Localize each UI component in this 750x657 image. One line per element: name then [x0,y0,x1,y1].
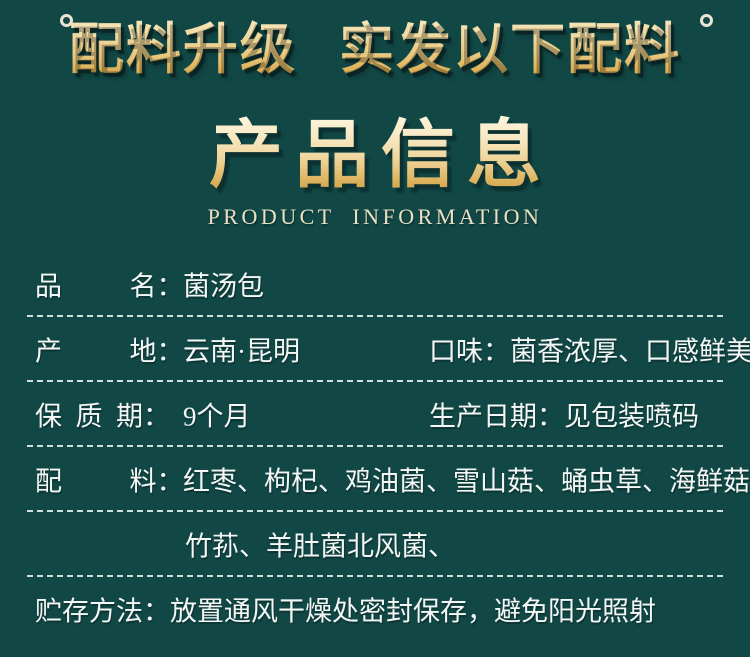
product-info-table: 品 名： 菌汤包 产 地： 云南·昆明 口味： 菌香浓厚、口感鲜美 保 质 期：… [0,252,750,640]
ingredients-cell: 配 料： 红枣、枸杞、鸡油菌、雪山菇、蛹虫草、海鲜菇、 [35,459,750,498]
ingredients-value: 红枣、枸杞、鸡油菌、雪山菇、蛹虫草、海鲜菇、 [183,459,750,498]
shelf-life-cell: 保 质 期： 9个月 [35,394,251,433]
shelf-life-label: 保 质 期： [35,394,183,433]
ingredients-continued-value: 竹荪、羊肚菌北风菌、 [185,524,455,563]
banner-headline: 配料升级 实发以下配料 [0,8,750,90]
shelf-life-value: 9个月 [183,394,251,433]
title-block: 产品信息 PRODUCT INFORMATION [0,112,750,230]
origin-value: 云南·昆明 [183,329,300,368]
ingredients-label: 配 料： [35,459,183,498]
origin-label: 产 地： [35,329,183,368]
info-row-ingredients: 配 料： 红枣、枸杞、鸡油菌、雪山菇、蛹虫草、海鲜菇、 [27,447,723,512]
product-information-page: 配料升级 实发以下配料 产品信息 PRODUCT INFORMATION 品 名… [0,0,750,657]
page-subtitle: PRODUCT INFORMATION [0,204,750,230]
info-row-storage: 贮存方法：放置通风干燥处密封保存，避免阳光照射 [27,577,723,640]
origin-cell: 产 地： 云南·昆明 [35,329,300,368]
page-title: 产品信息 [197,112,553,198]
flavor-cell: 口味： 菌香浓厚、口感鲜美 [429,329,750,368]
upgrade-banner: 配料升级 实发以下配料 [0,0,750,100]
storage-text: 贮存方法：放置通风干燥处密封保存，避免阳光照射 [35,589,656,628]
info-row-origin: 产 地： 云南·昆明 口味： 菌香浓厚、口感鲜美 [27,317,723,382]
production-date-cell: 生产日期： 见包装喷码 [429,394,699,433]
production-date-label: 生产日期： [429,394,564,433]
ingredients-continued-cell: 竹荪、羊肚菌北风菌、 [185,524,455,563]
flavor-value: 菌香浓厚、口感鲜美 [510,329,750,368]
product-name-cell: 品 名： 菌汤包 [35,264,264,303]
production-date-value: 见包装喷码 [564,394,699,433]
product-name-label: 品 名： [35,264,183,303]
info-row-shelf-life: 保 质 期： 9个月 生产日期： 见包装喷码 [27,382,723,447]
info-row-ingredients-continued: 竹荪、羊肚菌北风菌、 [27,512,723,577]
info-row-product-name: 品 名： 菌汤包 [27,252,723,317]
flavor-label: 口味： [429,329,510,368]
storage-cell: 贮存方法：放置通风干燥处密封保存，避免阳光照射 [35,589,656,628]
product-name-value: 菌汤包 [183,264,264,303]
